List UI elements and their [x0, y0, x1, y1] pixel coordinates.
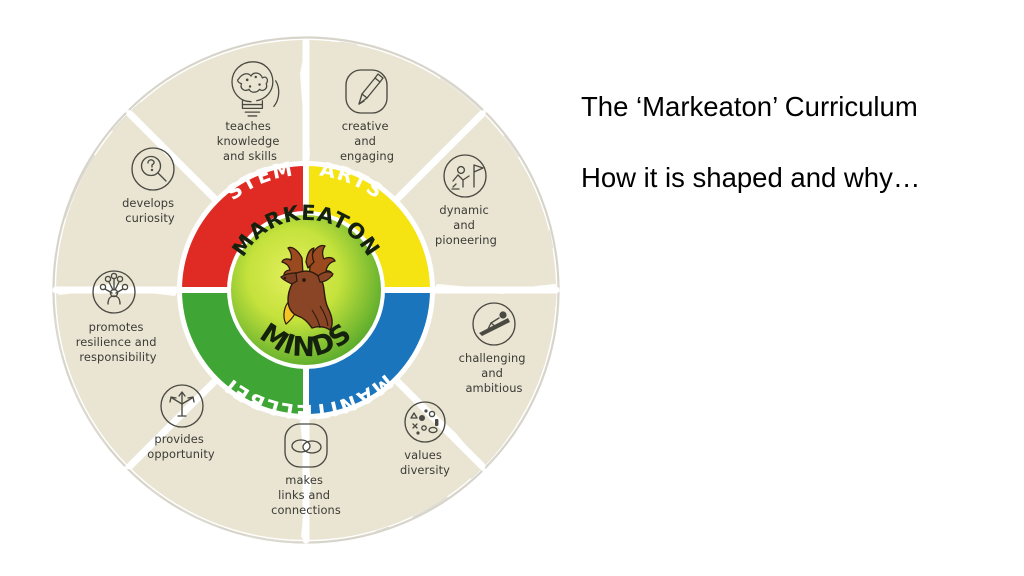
page-title: The ‘Markeaton’ Curriculum	[581, 92, 1001, 123]
segment-label: provides opportunity	[147, 432, 215, 461]
segment-label: teaches knowledge and skills	[217, 119, 283, 163]
page-subtitle: How it is shaped and why…	[581, 163, 1001, 194]
curriculum-wheel-svg: teaches knowledge and skills creative an…	[50, 34, 562, 546]
title-block: The ‘Markeaton’ Curriculum How it is sha…	[581, 92, 1001, 194]
segment-label: values diversity	[400, 448, 450, 477]
segment-label: develops curiosity	[122, 196, 178, 225]
title-spacer	[581, 123, 1001, 163]
slide-canvas: teaches knowledge and skills creative an…	[0, 0, 1024, 576]
markeaton-minds-logo[interactable]: MARKEATON MINDS	[227, 201, 385, 369]
curriculum-wheel: teaches knowledge and skills creative an…	[50, 34, 562, 546]
